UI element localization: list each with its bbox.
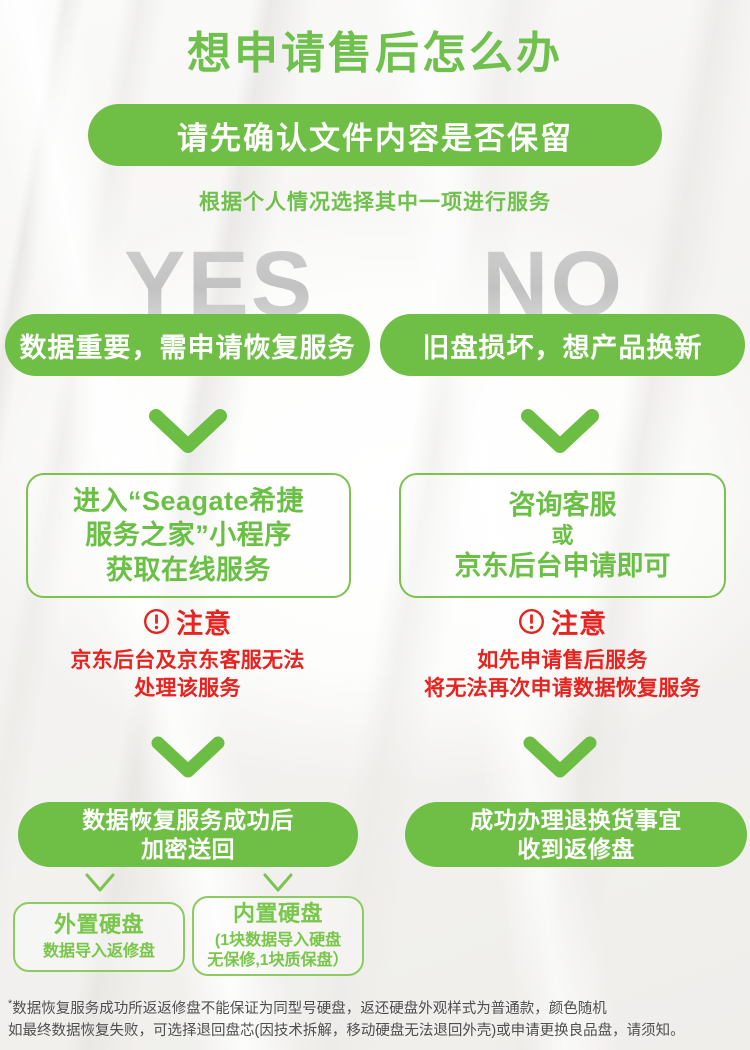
chevron-down-icon bbox=[520, 408, 600, 454]
branch-yes-step-box: 进入“Seagate希捷 服务之家”小程序 获取在线服务 bbox=[26, 473, 351, 598]
outcome-box-internal-drive: 内置硬盘 (1块数据导入硬盘 无保修,1块质保盘） bbox=[192, 896, 364, 976]
warning-title: 注意 bbox=[551, 611, 607, 638]
infographic-page: 想申请售后怎么办 请先确认文件内容是否保留 根据个人情况选择其中一项进行服务 Y… bbox=[0, 0, 750, 1050]
outcome-title: 内置硬盘 bbox=[233, 901, 323, 927]
branch-yes-warning: 注意 京东后台及京东客服无法 处理该服务 bbox=[0, 608, 375, 702]
outcome-sub: 无保修,1块质保盘） bbox=[207, 951, 348, 971]
step-line: 服务之家”小程序 bbox=[85, 518, 292, 552]
chevron-down-icon bbox=[522, 735, 598, 779]
result-line: 成功办理退换货事宜 bbox=[470, 806, 682, 835]
outcome-title: 外置硬盘 bbox=[54, 912, 144, 938]
step-line: 获取在线服务 bbox=[106, 553, 271, 587]
warning-body: 如先申请售后服务 将无法再次申请数据恢复服务 bbox=[375, 647, 750, 702]
result-line: 加密送回 bbox=[141, 835, 235, 864]
outcome-sub: 数据导入返修盘 bbox=[43, 942, 155, 962]
branch-no-column: 旧盘损坏，想产品换新 咨询客服 或 京东后台申请即可 注意 bbox=[375, 0, 750, 1050]
warning-line: 如先申请售后服务 bbox=[375, 647, 750, 675]
warning-line: 京东后台及京东客服无法 bbox=[0, 647, 375, 675]
result-line: 数据恢复服务成功后 bbox=[82, 806, 294, 835]
chevron-down-icon bbox=[82, 870, 118, 896]
chevron-down-icon bbox=[150, 735, 226, 779]
step-line: 进入“Seagate希捷 bbox=[73, 484, 304, 518]
exclamation-circle-icon bbox=[518, 608, 545, 640]
chevron-down-icon bbox=[260, 870, 296, 896]
branch-no-result-pill: 成功办理退换货事宜 收到返修盘 bbox=[405, 802, 747, 867]
warning-title: 注意 bbox=[176, 611, 232, 638]
branch-yes-column: 数据重要，需申请恢复服务 进入“Seagate希捷 服务之家”小程序 获取在线服… bbox=[0, 0, 375, 1050]
outcome-sub: (1块数据导入硬盘 bbox=[215, 931, 341, 951]
warning-line: 将无法再次申请数据恢复服务 bbox=[375, 675, 750, 703]
branch-no-choice-pill[interactable]: 旧盘损坏，想产品换新 bbox=[380, 314, 745, 376]
footnote-line-2: 如最终数据恢复失败，可选择退回盘芯(因技术拆解，移动硬盘无法退回外壳)或申请更换… bbox=[8, 1020, 748, 1042]
warning-header: 注意 bbox=[375, 608, 750, 640]
step-line: 京东后台申请即可 bbox=[455, 549, 671, 583]
footnote: *数据恢复服务成功所返返修盘不能保证为同型号硬盘，返还硬盘外观样式为普通款，颜色… bbox=[8, 996, 748, 1043]
warning-line: 处理该服务 bbox=[0, 675, 375, 703]
step-line: 咨询客服 bbox=[509, 488, 617, 522]
step-line: 或 bbox=[551, 522, 573, 550]
warning-body: 京东后台及京东客服无法 处理该服务 bbox=[0, 647, 375, 702]
chevron-down-icon bbox=[148, 408, 228, 454]
branch-no-step-box: 咨询客服 或 京东后台申请即可 bbox=[399, 473, 726, 598]
exclamation-circle-icon bbox=[143, 608, 170, 640]
branch-yes-result-pill: 数据恢复服务成功后 加密送回 bbox=[18, 802, 358, 867]
footnote-line-1: 数据恢复服务成功所返返修盘不能保证为同型号硬盘，返还硬盘外观样式为普通款，颜色随… bbox=[12, 1001, 607, 1017]
outcome-box-external-drive: 外置硬盘 数据导入返修盘 bbox=[13, 902, 185, 972]
branch-no-warning: 注意 如先申请售后服务 将无法再次申请数据恢复服务 bbox=[375, 608, 750, 702]
warning-header: 注意 bbox=[0, 608, 375, 640]
branch-yes-choice-pill[interactable]: 数据重要，需申请恢复服务 bbox=[5, 314, 370, 376]
result-line: 收到返修盘 bbox=[517, 835, 635, 864]
